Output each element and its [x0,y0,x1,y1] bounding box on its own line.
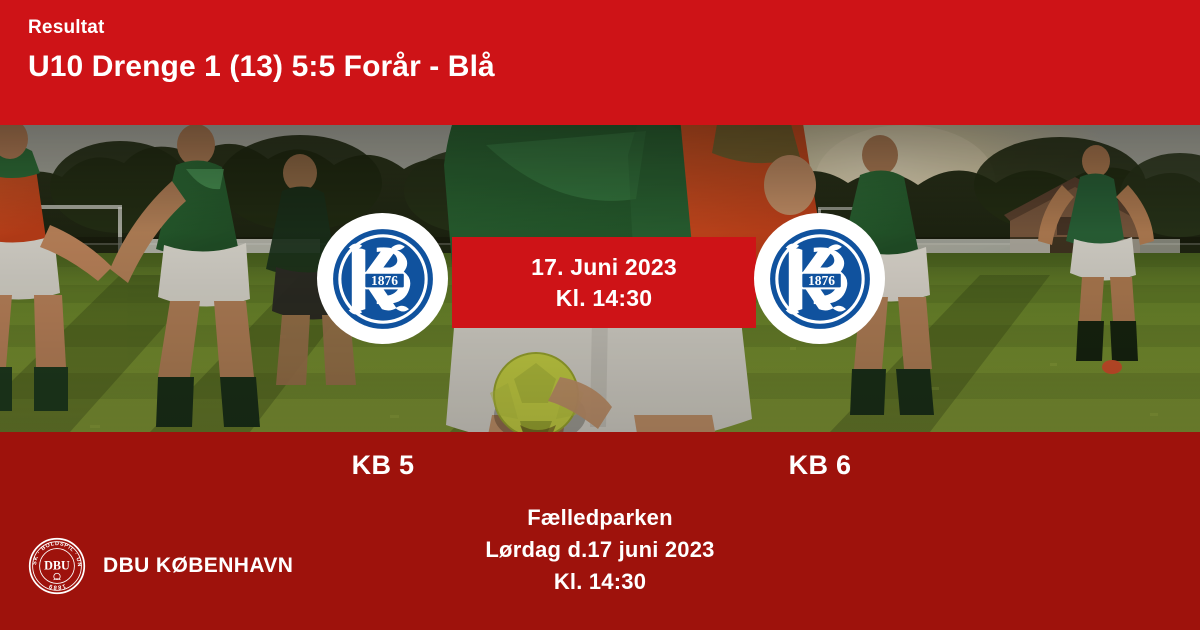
kb-crest-icon: 1876 [768,227,872,331]
venue-name: Fælledparken [0,502,1200,534]
kb-crest-icon: 1876 [331,227,435,331]
svg-text:1876: 1876 [808,273,835,288]
home-team-name: KB 5 [253,450,513,481]
poster-header: Resultat U10 Drenge 1 (13) 5:5 Forår - B… [0,0,1200,125]
away-team-name: KB 6 [690,450,950,481]
home-team-crest: 1876 [317,213,448,344]
dbu-crest-icon: DANSK · BOLDSPIL · UNION 1889 DBU [28,537,86,595]
poster-footer: KB 5 KB 6 Fælledparken Lørdag d.17 juni … [0,432,1200,630]
page-title: U10 Drenge 1 (13) 5:5 Forår - Blå [28,50,1200,85]
svg-text:1876: 1876 [371,273,398,288]
dbu-brand-name: DBU KØBENHAVN [103,554,293,578]
away-team-crest: 1876 [754,213,885,344]
svg-text:DBU: DBU [44,558,70,572]
result-poster: Resultat U10 Drenge 1 (13) 5:5 Forår - B… [0,0,1200,630]
header-kicker: Resultat [28,18,1200,39]
match-date: 17. Juni 2023 [531,252,677,282]
match-time: Kl. 14:30 [556,283,652,313]
dbu-brand: DANSK · BOLDSPIL · UNION 1889 DBU DBU KØ… [28,537,293,595]
match-date-banner: 17. Juni 2023 Kl. 14:30 [452,237,756,328]
